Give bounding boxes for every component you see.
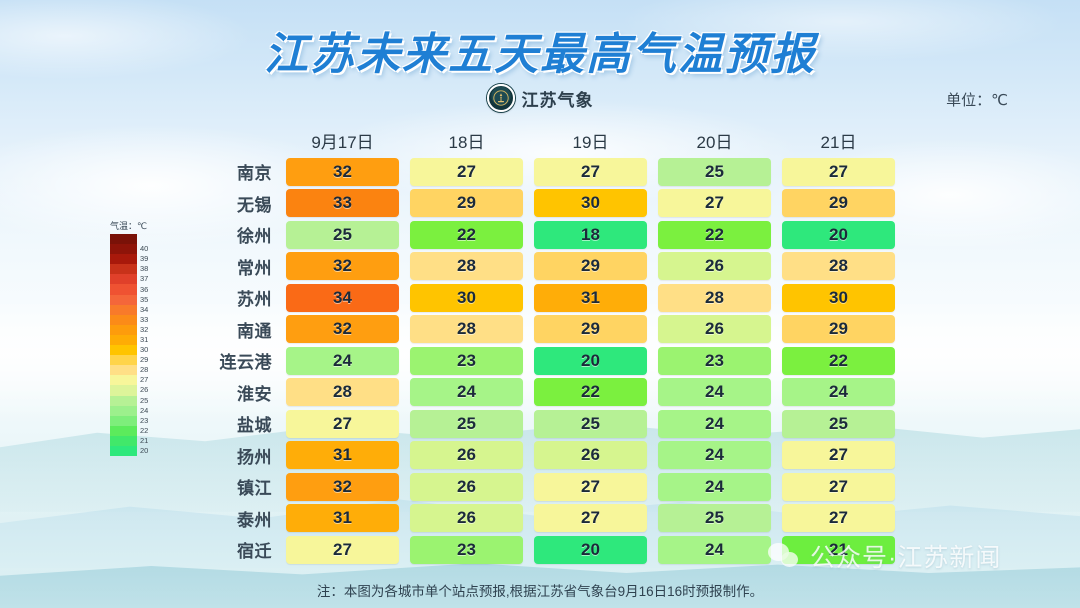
temperature-cell: 23 <box>658 347 771 375</box>
temperature-cell: 22 <box>658 221 771 249</box>
city-label-南京: 南京 <box>186 159 286 184</box>
temperature-cell: 24 <box>658 410 771 438</box>
temperature-cell: 24 <box>658 473 771 501</box>
legend-stop: 37 <box>110 274 160 284</box>
legend-label: 26 <box>140 385 148 395</box>
table-row: 南通3228292629 <box>186 314 895 346</box>
temperature-cell: 29 <box>782 315 895 343</box>
date-header-19日: 19日 <box>534 128 647 153</box>
legend-stop: 31 <box>110 335 160 345</box>
temperature-cell: 29 <box>782 189 895 217</box>
legend-swatch <box>110 396 137 406</box>
legend-scale: 4039383736353433323130292827262524232221… <box>110 234 160 456</box>
legend-label: 28 <box>140 365 148 375</box>
temperature-cell: 31 <box>534 284 647 312</box>
temperature-cell: 26 <box>410 504 523 532</box>
temperature-cell: 24 <box>286 347 399 375</box>
temperature-cell: 22 <box>534 378 647 406</box>
legend-label: 30 <box>140 345 148 355</box>
temperature-cell: 27 <box>782 158 895 186</box>
legend-label: 38 <box>140 264 148 274</box>
city-label-盐城: 盐城 <box>186 411 286 436</box>
legend-label: 21 <box>140 436 148 446</box>
temperature-cell: 24 <box>658 378 771 406</box>
legend-label: 35 <box>140 295 148 305</box>
weather-bureau-emblem-icon <box>487 84 515 112</box>
legend-stop: 30 <box>110 345 160 355</box>
legend-label: 25 <box>140 396 148 406</box>
city-label-无锡: 无锡 <box>186 191 286 216</box>
legend-swatch <box>110 406 137 416</box>
city-label-泰州: 泰州 <box>186 506 286 531</box>
city-label-宿迁: 宿迁 <box>186 537 286 562</box>
date-headers: 9月17日18日19日20日21日 <box>286 128 895 153</box>
legend-swatch <box>110 436 137 446</box>
date-header-20日: 20日 <box>658 128 771 153</box>
legend-label: 33 <box>140 315 148 325</box>
forecast-table: 9月17日18日19日20日21日 南京3227272527无锡33293027… <box>186 125 895 566</box>
date-header-18日: 18日 <box>410 128 523 153</box>
temperature-cell: 27 <box>286 536 399 564</box>
temperature-cell: 28 <box>410 315 523 343</box>
legend-swatch <box>110 234 137 244</box>
temperature-cell: 27 <box>534 158 647 186</box>
table-row: 泰州3126272527 <box>186 503 895 535</box>
legend-stop: 24 <box>110 406 160 416</box>
temperature-cell: 25 <box>658 504 771 532</box>
legend-stop: 34 <box>110 305 160 315</box>
legend-swatch <box>110 254 137 264</box>
temperature-cell: 24 <box>782 378 895 406</box>
temperature-cell: 27 <box>410 158 523 186</box>
legend-stop: 35 <box>110 295 160 305</box>
brand-lockup: 江苏气象 <box>0 84 1080 112</box>
temperature-cell: 32 <box>286 473 399 501</box>
legend-stop: 20 <box>110 446 160 456</box>
table-row: 常州3228292628 <box>186 251 895 283</box>
city-label-苏州: 苏州 <box>186 285 286 310</box>
city-label-淮安: 淮安 <box>186 380 286 405</box>
legend-swatch <box>110 426 137 436</box>
legend-swatch <box>110 315 137 325</box>
legend-stop: 40 <box>110 244 160 254</box>
legend-swatch <box>110 446 137 456</box>
temperature-cell: 33 <box>286 189 399 217</box>
legend-stop: 32 <box>110 325 160 335</box>
temperature-cell: 27 <box>534 504 647 532</box>
date-header-21日: 21日 <box>782 128 895 153</box>
temperature-cell: 24 <box>658 441 771 469</box>
legend-label: 37 <box>140 274 148 284</box>
legend-label: 39 <box>140 254 148 264</box>
temperature-cell: 29 <box>534 315 647 343</box>
table-row: 苏州3430312830 <box>186 282 895 314</box>
legend-stop: 23 <box>110 416 160 426</box>
temperature-cell: 31 <box>286 504 399 532</box>
temperature-cell: 26 <box>658 252 771 280</box>
legend-stop: 29 <box>110 355 160 365</box>
temperature-cell: 20 <box>534 536 647 564</box>
temperature-cell: 28 <box>782 252 895 280</box>
temperature-cell: 32 <box>286 158 399 186</box>
temperature-cell: 27 <box>286 410 399 438</box>
legend-label: 34 <box>140 305 148 315</box>
legend-stop <box>110 234 160 244</box>
legend-swatch <box>110 355 137 365</box>
temperature-cell: 26 <box>410 473 523 501</box>
temperature-cell: 25 <box>534 410 647 438</box>
legend-stop: 21 <box>110 436 160 446</box>
wechat-icon <box>768 541 802 571</box>
table-row: 淮安2824222424 <box>186 377 895 409</box>
temperature-cell: 20 <box>782 221 895 249</box>
city-label-扬州: 扬州 <box>186 443 286 468</box>
temperature-cell: 26 <box>410 441 523 469</box>
footer-note: 注：本图为各城市单个站点预报,根据江苏省气象台9月16日16时预报制作。 <box>0 580 1080 600</box>
legend-swatch <box>110 325 137 335</box>
legend-stop: 39 <box>110 254 160 264</box>
legend-stop: 38 <box>110 264 160 274</box>
city-label-南通: 南通 <box>186 317 286 342</box>
legend-label: 22 <box>140 426 148 436</box>
temperature-cell: 24 <box>658 536 771 564</box>
temperature-cell: 25 <box>782 410 895 438</box>
legend-swatch <box>110 385 137 395</box>
temperature-cell: 24 <box>410 378 523 406</box>
unit-label: 单位：℃ <box>946 89 1008 110</box>
legend-swatch <box>110 295 137 305</box>
table-row: 盐城2725252425 <box>186 408 895 440</box>
temperature-cell: 27 <box>782 441 895 469</box>
legend-stop: 22 <box>110 426 160 436</box>
legend-stop: 28 <box>110 365 160 375</box>
table-row: 连云港2423202322 <box>186 345 895 377</box>
temperature-cell: 20 <box>534 347 647 375</box>
temperature-cell: 25 <box>410 410 523 438</box>
legend-stop: 36 <box>110 284 160 294</box>
legend-label: 20 <box>140 446 148 456</box>
table-row: 徐州2522182220 <box>186 219 895 251</box>
legend-swatch <box>110 284 137 294</box>
watermark-text: 公众号·江苏新闻 <box>810 538 1001 574</box>
temperature-cell: 27 <box>534 473 647 501</box>
legend-swatch <box>110 335 137 345</box>
temperature-cell: 27 <box>658 189 771 217</box>
legend-swatch <box>110 365 137 375</box>
city-label-镇江: 镇江 <box>186 474 286 499</box>
table-header-row: 9月17日18日19日20日21日 <box>186 125 895 156</box>
legend-swatch <box>110 274 137 284</box>
temperature-cell: 26 <box>658 315 771 343</box>
legend-title: 气温：℃ <box>110 219 160 232</box>
legend-swatch <box>110 345 137 355</box>
city-label-连云港: 连云港 <box>186 348 286 373</box>
legend-swatch <box>110 305 137 315</box>
legend-swatch <box>110 416 137 426</box>
date-header-9月17日: 9月17日 <box>286 128 399 153</box>
temperature-cell: 32 <box>286 252 399 280</box>
temperature-legend: 气温：℃ 40393837363534333231302928272625242… <box>110 219 160 456</box>
legend-stop: 26 <box>110 385 160 395</box>
temperature-cell: 30 <box>534 189 647 217</box>
temperature-cell: 23 <box>410 347 523 375</box>
temperature-cell: 28 <box>410 252 523 280</box>
legend-label: 40 <box>140 244 148 254</box>
city-label-徐州: 徐州 <box>186 222 286 247</box>
temperature-cell: 29 <box>534 252 647 280</box>
legend-swatch <box>110 264 137 274</box>
table-row: 扬州3126262427 <box>186 440 895 472</box>
temperature-cell: 34 <box>286 284 399 312</box>
legend-stop: 33 <box>110 315 160 325</box>
temperature-cell: 30 <box>782 284 895 312</box>
legend-swatch <box>110 244 137 254</box>
temperature-cell: 29 <box>410 189 523 217</box>
temperature-cell: 27 <box>782 473 895 501</box>
table-row: 镇江3226272427 <box>186 471 895 503</box>
temperature-cell: 18 <box>534 221 647 249</box>
legend-swatch <box>110 375 137 385</box>
legend-label: 24 <box>140 406 148 416</box>
legend-label: 29 <box>140 355 148 365</box>
legend-label: 27 <box>140 375 148 385</box>
page-title: 江苏未来五天最高气温预报 <box>0 18 1080 82</box>
table-row: 无锡3329302729 <box>186 188 895 220</box>
legend-label: 32 <box>140 325 148 335</box>
legend-label: 36 <box>140 285 148 295</box>
legend-stop: 25 <box>110 396 160 406</box>
brand-name: 江苏气象 <box>522 86 594 111</box>
city-label-常州: 常州 <box>186 254 286 279</box>
temperature-cell: 25 <box>658 158 771 186</box>
legend-stop: 27 <box>110 375 160 385</box>
table-row: 南京3227272527 <box>186 156 895 188</box>
temperature-cell: 28 <box>658 284 771 312</box>
legend-label: 31 <box>140 335 148 345</box>
temperature-cell: 31 <box>286 441 399 469</box>
temperature-cell: 23 <box>410 536 523 564</box>
temperature-cell: 28 <box>286 378 399 406</box>
table-body: 南京3227272527无锡3329302729徐州2522182220常州32… <box>186 156 895 566</box>
temperature-cell: 22 <box>410 221 523 249</box>
temperature-cell: 22 <box>782 347 895 375</box>
temperature-cell: 32 <box>286 315 399 343</box>
watermark: 公众号·江苏新闻 <box>768 538 1001 574</box>
temperature-cell: 26 <box>534 441 647 469</box>
temperature-cell: 27 <box>782 504 895 532</box>
temperature-cell: 30 <box>410 284 523 312</box>
legend-label: 23 <box>140 416 148 426</box>
temperature-cell: 25 <box>286 221 399 249</box>
